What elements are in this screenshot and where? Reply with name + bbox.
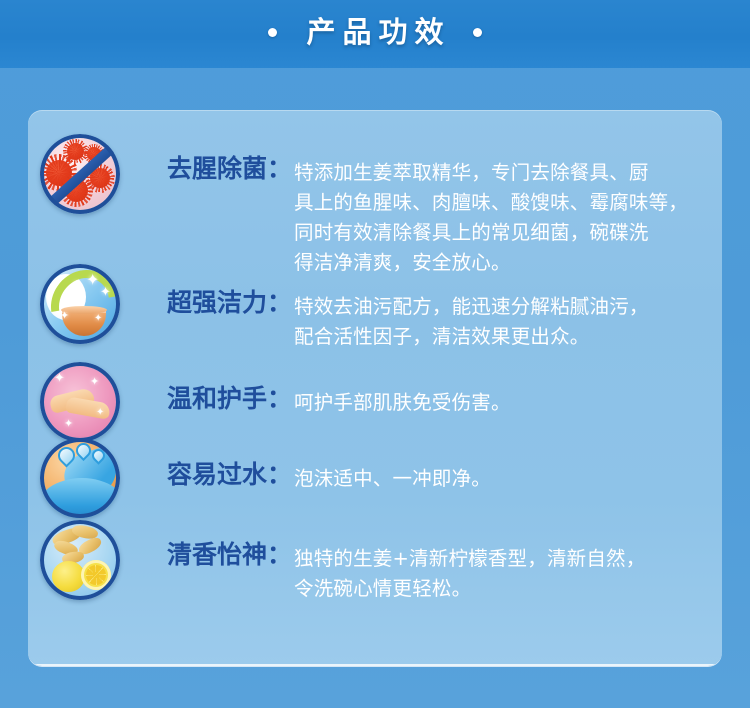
description-line: 特效去油污配方，能迅速分解粘腻油污， — [294, 292, 714, 322]
feature-title: 容易过水： — [132, 436, 292, 490]
germ-free-icon — [40, 134, 120, 214]
feature-description: 独特的生姜+清新柠檬香型，清新自然， 令洗碗心情更轻松。 — [292, 518, 722, 604]
water-rinse-icon — [40, 438, 120, 518]
feature-description: 呵护手部肌肤免受伤害。 — [292, 360, 722, 418]
description-line: 令洗碗心情更轻松。 — [294, 574, 714, 604]
feature-row: 去腥除菌： 特添加生姜萃取精华，专门去除餐具、厨 具上的鱼腥味、肉膻味、酸馊味、… — [28, 132, 722, 278]
feature-title: 温和护手： — [132, 360, 292, 414]
feature-title: 超强洁力： — [132, 262, 292, 318]
feature-icon-cell — [28, 518, 132, 600]
feature-row: 清香怡神： 独特的生姜+清新柠檬香型，清新自然， 令洗碗心情更轻松。 — [28, 518, 722, 604]
feature-icon-cell: ✦ ✦ ✦ ✦ — [28, 360, 132, 442]
header-band: 产品功效 — [0, 0, 750, 68]
feature-icon-cell — [28, 436, 132, 518]
description-line: 泡沫适中、一冲即净。 — [294, 464, 714, 494]
feature-icon-cell — [28, 132, 132, 214]
description-line: 具上的鱼腥味、肉膻味、酸馊味、霉腐味等， — [294, 188, 714, 218]
feature-title: 去腥除菌： — [132, 132, 292, 184]
description-line: 独特的生姜+清新柠檬香型，清新自然， — [294, 544, 714, 574]
feature-description: 泡沫适中、一冲即净。 — [292, 436, 722, 494]
content-panel: 去腥除菌： 特添加生姜萃取精华，专门去除餐具、厨 具上的鱼腥味、肉膻味、酸馊味、… — [28, 110, 722, 666]
clean-dish-icon: ✦ ✦ ✦ ✦ ✦ — [40, 264, 120, 344]
gentle-hands-icon: ✦ ✦ ✦ ✦ — [40, 362, 120, 442]
feature-row: ✦ ✦ ✦ ✦ ✦ 超强洁力： 特效去油污配方，能迅速分解粘腻油污， 配合活性因… — [28, 262, 722, 352]
feature-title: 清香怡神： — [132, 518, 292, 570]
bullet-dot-right-icon — [473, 28, 482, 37]
feature-description: 特添加生姜萃取精华，专门去除餐具、厨 具上的鱼腥味、肉膻味、酸馊味、霉腐味等， … — [292, 132, 722, 278]
feature-description: 特效去油污配方，能迅速分解粘腻油污， 配合活性因子，清洁效果更出众。 — [292, 262, 722, 352]
header-inner: 产品功效 — [268, 18, 481, 47]
feature-row: ✦ ✦ ✦ ✦ 温和护手： 呵护手部肌肤免受伤害。 — [28, 360, 722, 442]
description-line: 特添加生姜萃取精华，专门去除餐具、厨 — [294, 158, 714, 188]
ginger-lemon-icon — [40, 520, 120, 600]
page-title: 产品功效 — [299, 18, 450, 47]
description-line: 同时有效清除餐具上的常见细菌，碗碟洗 — [294, 218, 714, 248]
feature-row: 容易过水： 泡沫适中、一冲即净。 — [28, 436, 722, 518]
feature-icon-cell: ✦ ✦ ✦ ✦ ✦ — [28, 262, 132, 344]
bullet-dot-left-icon — [268, 28, 277, 37]
description-line: 配合活性因子，清洁效果更出众。 — [294, 322, 714, 352]
description-line: 呵护手部肌肤免受伤害。 — [294, 388, 714, 418]
product-benefits-infographic: 产品功效 去 — [0, 0, 750, 708]
